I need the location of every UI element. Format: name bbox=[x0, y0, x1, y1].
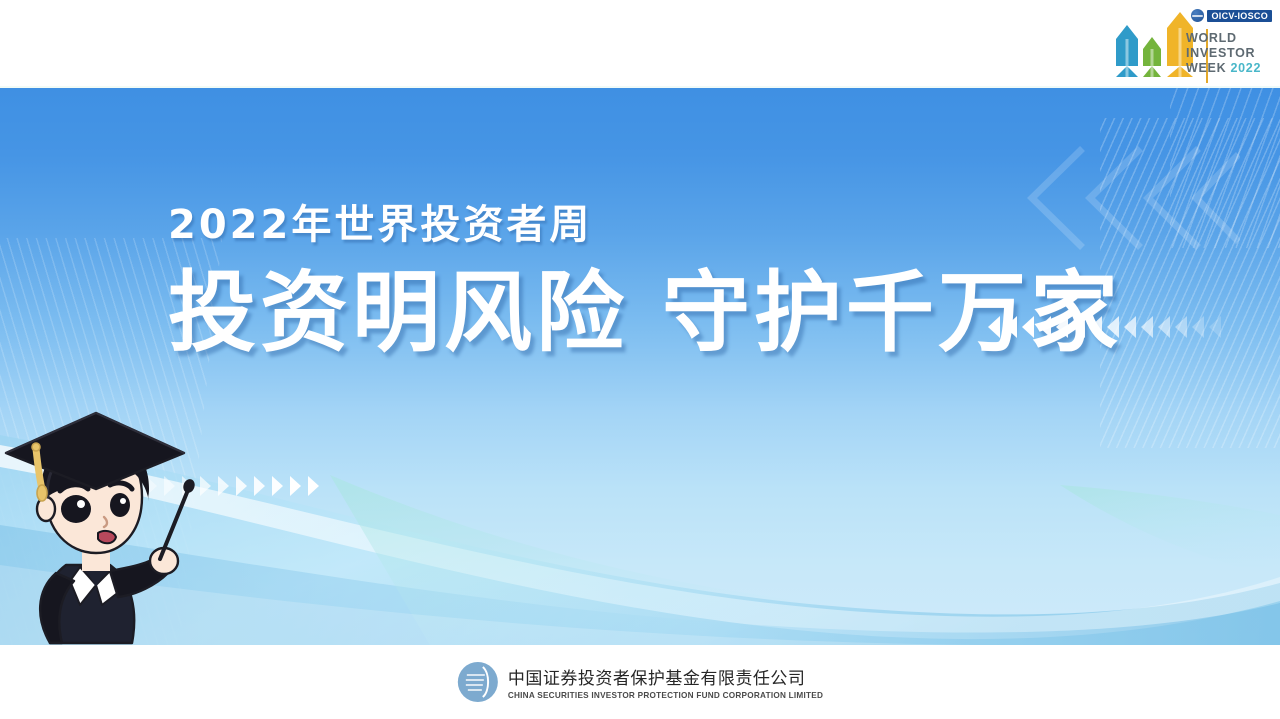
poster-headline: 投资明风险守护千万家 bbox=[168, 269, 1122, 357]
wiw-line-investor: INVESTOR bbox=[1186, 46, 1270, 61]
wiw-wordmark: WORLD INVESTOR WEEK 2022 bbox=[1186, 31, 1270, 75]
graduate-professor-mascot-icon bbox=[0, 405, 202, 645]
header-bar: OICV-IOSCO WORLD INVESTOR WEEK 2022 bbox=[0, 0, 1280, 88]
title-block: 2022年世界投资者周 投资明风险守护千万家 bbox=[168, 205, 1122, 357]
pencil-blue-icon bbox=[1116, 25, 1138, 77]
poster-stage: 2022年世界投资者周 投资明风险守护千万家 bbox=[0, 88, 1280, 645]
pencil-green-icon bbox=[1143, 37, 1161, 77]
footer-bar: 中国证券投资者保护基金有限责任公司 CHINA SECURITIES INVES… bbox=[0, 645, 1280, 719]
poster-root: OICV-IOSCO WORLD INVESTOR WEEK 2022 bbox=[0, 0, 1280, 719]
csipf-logo-block: 中国证券投资者保护基金有限责任公司 CHINA SECURITIES INVES… bbox=[457, 661, 823, 703]
headline-part-2: 守护千万家 bbox=[662, 261, 1122, 364]
wiw-year: 2022 bbox=[1231, 61, 1262, 75]
poster-subtitle: 2022年世界投资者周 bbox=[168, 205, 1122, 245]
chevron-left-strip-icon bbox=[988, 316, 1221, 338]
wiw-line-week: WEEK 2022 bbox=[1186, 61, 1270, 76]
csipf-globe-mark-icon bbox=[457, 661, 499, 703]
csipf-name-block: 中国证券投资者保护基金有限责任公司 CHINA SECURITIES INVES… bbox=[508, 664, 823, 700]
iosco-badge: OICV-IOSCO bbox=[1191, 9, 1272, 22]
headline-part-1: 投资明风险 bbox=[168, 261, 628, 364]
csipf-name-cn: 中国证券投资者保护基金有限责任公司 bbox=[508, 664, 823, 689]
iosco-globe-icon bbox=[1191, 9, 1204, 22]
csipf-name-en: CHINA SECURITIES INVESTOR PROTECTION FUN… bbox=[508, 691, 823, 700]
iosco-label: OICV-IOSCO bbox=[1207, 10, 1272, 22]
world-investor-week-logo: OICV-IOSCO WORLD INVESTOR WEEK 2022 bbox=[1106, 5, 1274, 85]
wiw-week-word: WEEK bbox=[1186, 61, 1226, 75]
wiw-line-world: WORLD bbox=[1186, 31, 1270, 46]
